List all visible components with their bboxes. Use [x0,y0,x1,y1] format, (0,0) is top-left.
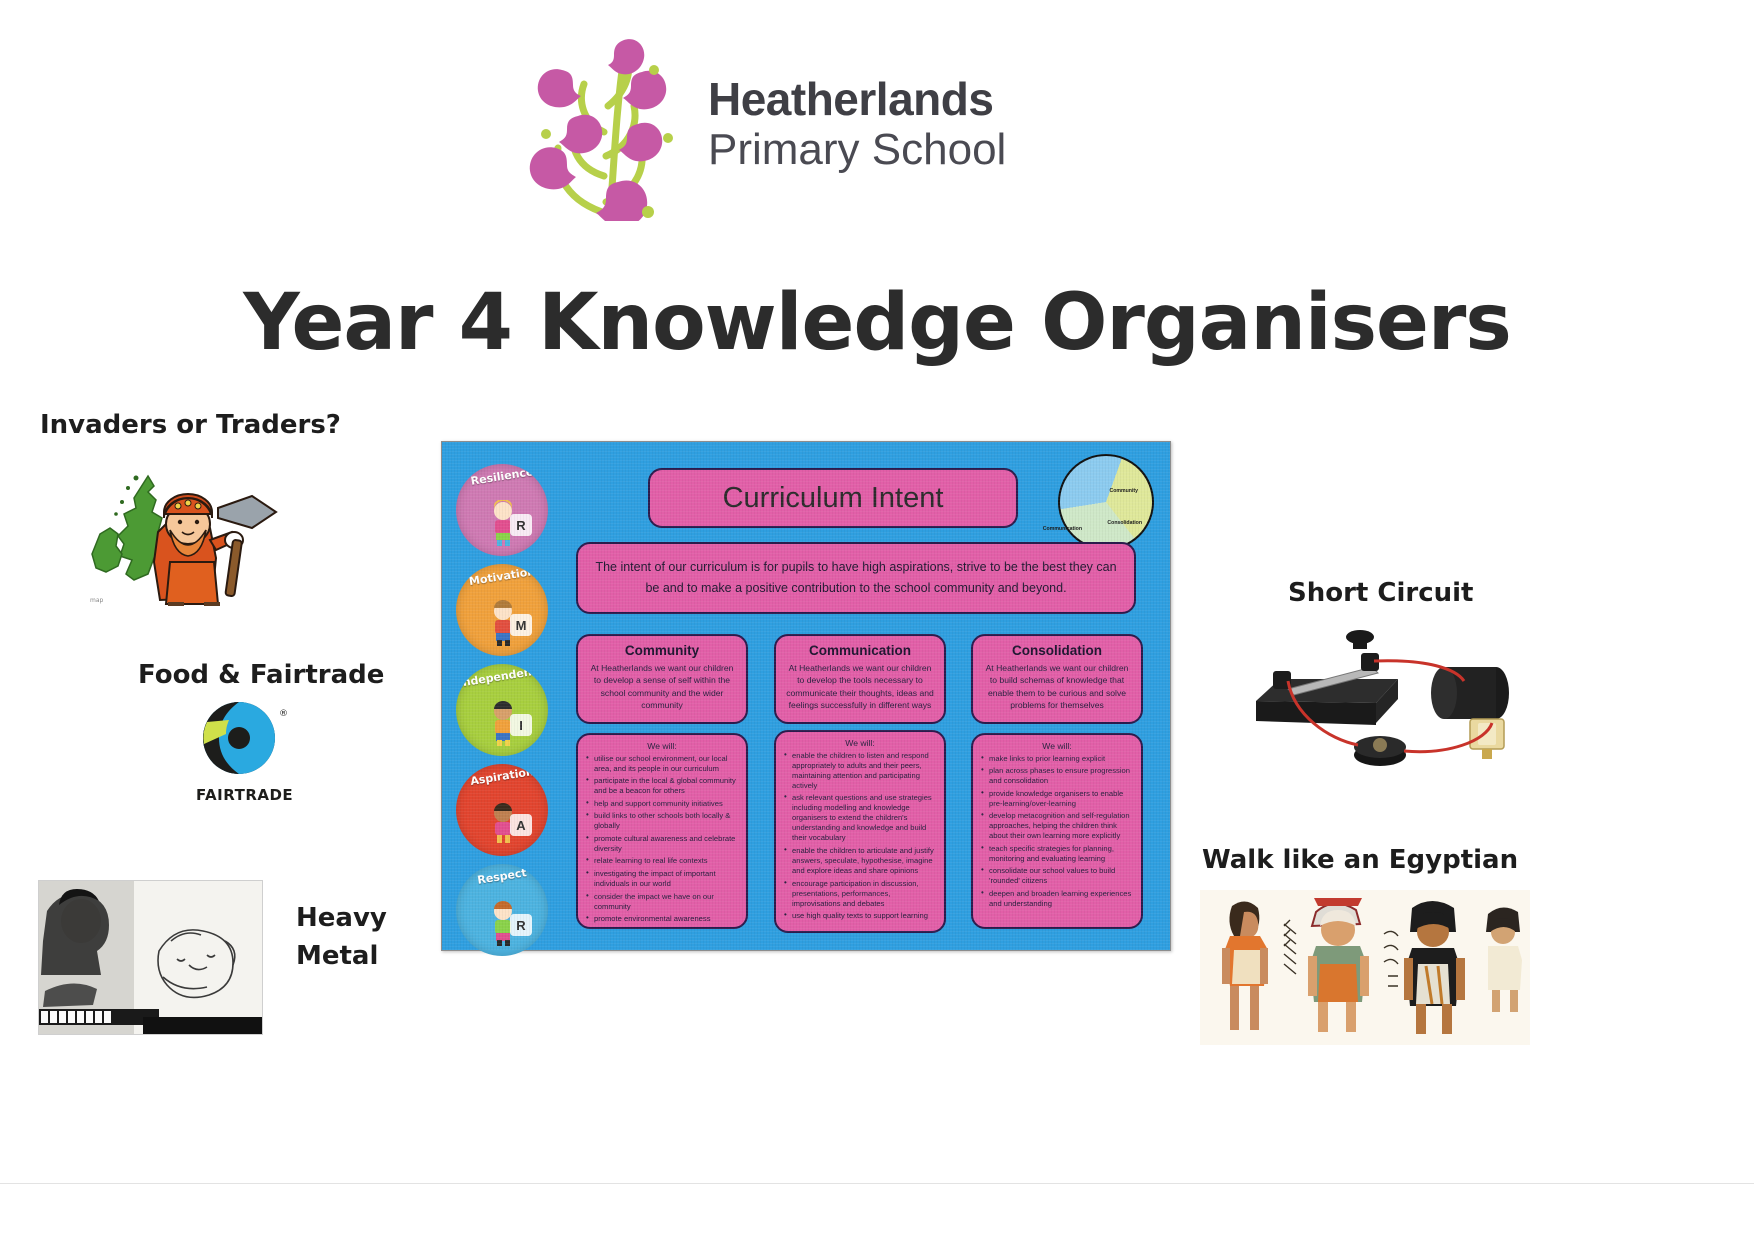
list-item: deepen and broaden learning experiences … [981,889,1133,909]
fairtrade-wordmark: FAIRTRADE [196,786,293,804]
community-intro: At Heatherlands we want our children to … [587,662,737,712]
badge-aspiration: Aspiration A [456,764,548,856]
registered-mark: ® [279,709,288,719]
school-logo-block: Heatherlands Primary School [520,26,1006,221]
badge-motivation-label: Motivation [456,564,548,590]
badge-resilience-label: Resilience [456,464,548,490]
badge-motivation-letter: M [510,614,532,636]
list-item: encourage participation in discussion, p… [784,879,936,909]
curriculum-intent-body: The intent of our curriculum is for pupi… [594,557,1118,598]
curriculum-intent-title: Curriculum Intent [723,482,944,515]
communication-we-will-label: We will: [784,738,936,748]
list-item: enable the children to articulate and ju… [784,846,936,876]
list-item: consolidate our school values to build '… [981,866,1133,886]
curriculum-intent-title-panel: Curriculum Intent [648,468,1018,528]
badge-respect-letter: R [510,914,532,936]
communication-heading: Communication [785,643,935,658]
badge-aspiration-label: Aspiration [456,764,548,790]
beethoven-piano-photo-icon [38,880,263,1035]
community-bullet-list: utilise our school environment, our loca… [586,754,738,924]
ancient-egyptian-figures-icon [1200,890,1530,1045]
list-item: teach specific strategies for planning, … [981,844,1133,864]
community-heading: Community [587,643,737,658]
topic-label-walk-like-an-egyptian: Walk like an Egyptian [1202,845,1518,875]
consolidation-bullet-list: make links to prior learning explicit pl… [981,754,1133,909]
badge-respect-label: Respect [456,864,548,890]
heavy-metal-line1: Heavy [296,903,387,933]
heavy-metal-line2: Metal [296,941,378,971]
list-item: utilise our school environment, our loca… [586,754,738,774]
badge-independence-letter: I [510,714,532,736]
fairtrade-logo-icon: ® FAIRTRADE [195,700,299,808]
list-item: consider the impact we have on our commu… [586,892,738,912]
school-name-secondary: Primary School [708,128,1006,172]
topic-label-heavy-metal: Heavy Metal [296,900,416,975]
list-item: enable the children to listen and respon… [784,751,936,791]
list-item: build links to other schools both locall… [586,811,738,831]
page-title: Year 4 Knowledge Organisers [0,278,1754,368]
list-item: provide knowledge organisers to enable p… [981,789,1133,809]
list-item: plan across phases to ensure progression… [981,766,1133,786]
telegraph-key-circuit-photo-icon [1248,615,1548,785]
consolidation-bullets-panel: We will: make links to prior learning ex… [971,733,1143,929]
list-item: use high quality texts to support learni… [784,911,936,921]
badge-resilience-letter: R [510,514,532,536]
curriculum-intent-poster: Resilience R Motivation M Independence I… [441,441,1171,951]
flower-tree-logo-icon [520,26,690,221]
svg-text:map: map [90,597,104,604]
consolidation-heading: Consolidation [982,643,1132,658]
list-item: make links to prior learning explicit [981,754,1133,764]
communication-bullet-list: enable the children to listen and respon… [784,751,936,921]
consolidation-intro: At Heatherlands we want our children to … [982,662,1132,712]
pie-slice-label-communication: Communication [1043,526,1082,532]
list-item: promote cultural awareness and celebrate… [586,834,738,854]
topic-label-invaders-or-traders: Invaders or Traders? [40,410,341,440]
pie-slice-label-community: Community [1109,488,1138,494]
list-item: participate in the local & global commun… [586,776,738,796]
list-item: develop metacognition and self-regulatio… [981,811,1133,841]
list-item: ask relevant questions and use strategie… [784,793,936,843]
community-we-will-label: We will: [586,741,738,751]
poster-column-community: Community At Heatherlands we want our ch… [576,634,748,929]
badge-independence-label: Independence [456,664,548,690]
community-heading-panel: Community At Heatherlands we want our ch… [576,634,748,724]
pie-slice-label-consolidation: Consolidation [1107,520,1142,526]
list-item: promote environmental awareness [586,914,738,924]
poster-column-consolidation: Consolidation At Heatherlands we want ou… [971,634,1143,929]
curriculum-intent-body-panel: The intent of our curriculum is for pupi… [576,542,1136,614]
school-name-primary: Heatherlands [708,76,1006,122]
badge-motivation: Motivation M [456,564,548,656]
topic-label-short-circuit: Short Circuit [1288,578,1473,608]
values-badge-column: Resilience R Motivation M Independence I… [456,464,551,964]
list-item: investigating the impact of important in… [586,869,738,889]
page-bottom-edge [0,1183,1754,1184]
curriculum-pie-chart: Community Communication Consolidation [1048,454,1160,550]
communication-heading-panel: Communication At Heatherlands we want ou… [774,634,946,724]
consolidation-heading-panel: Consolidation At Heatherlands we want ou… [971,634,1143,724]
viking-with-axe-and-britain-map-icon: map [70,462,285,607]
badge-aspiration-letter: A [510,814,532,836]
pie-chart-circle [1058,454,1154,550]
badge-resilience: Resilience R [456,464,548,556]
community-bullets-panel: We will: utilise our school environment,… [576,733,748,929]
list-item: relate learning to real life contexts [586,856,738,866]
badge-independence: Independence I [456,664,548,756]
topic-label-food-and-fairtrade: Food & Fairtrade [138,660,384,690]
communication-intro: At Heatherlands we want our children to … [785,662,935,712]
consolidation-we-will-label: We will: [981,741,1133,751]
communication-bullets-panel: We will: enable the children to listen a… [774,730,946,933]
poster-column-communication: Communication At Heatherlands we want ou… [774,634,946,933]
badge-respect: Respect R [456,864,548,956]
list-item: help and support community initiatives [586,799,738,809]
